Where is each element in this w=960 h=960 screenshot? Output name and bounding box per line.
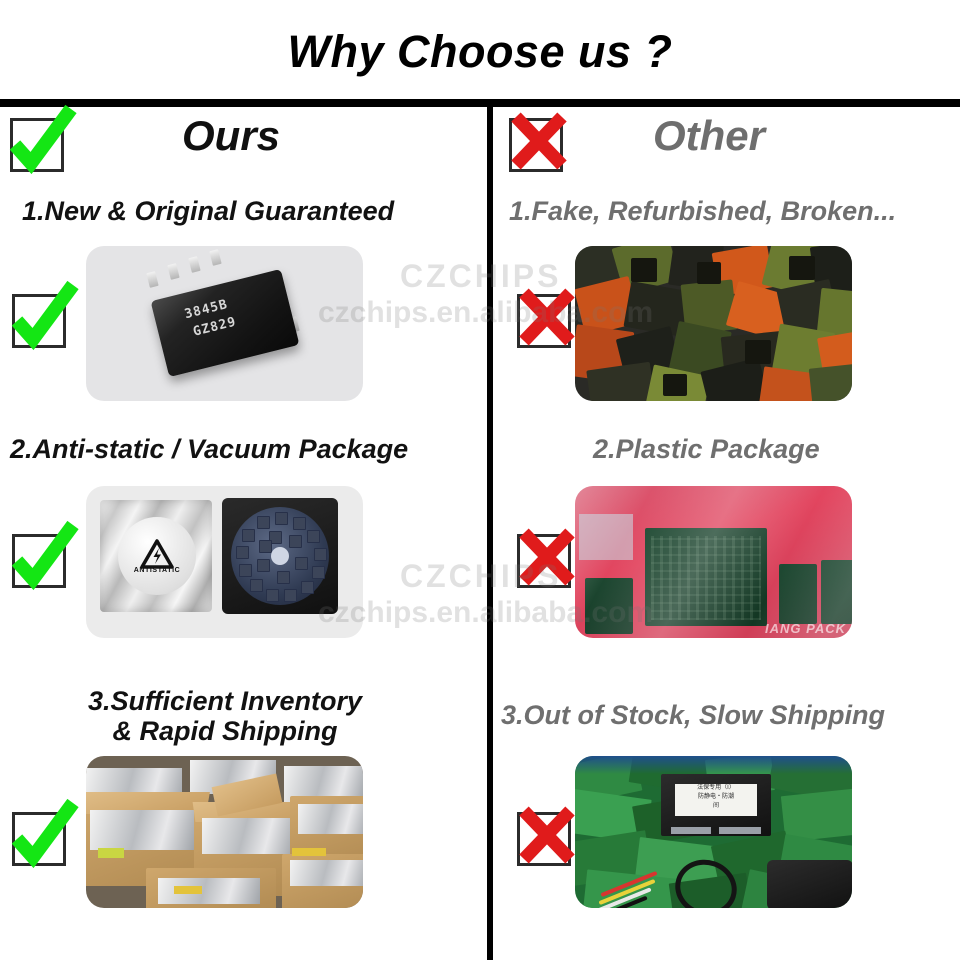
photo-fake-refurbished-chips [575,246,852,401]
package-watermark-text: IANG PACK [765,621,846,636]
photo-out-of-stock-scrap-pcb: 法保专用（I） 防静电・防潮 间 [575,756,852,908]
feature-text-3-ours: 3.Sufficient Inventory & Rapid Shipping [60,686,390,746]
cross-mark-icon-row-2 [517,534,571,588]
cross-mark-icon-row-1 [517,294,571,348]
antistatic-bag: ANTISTATIC [100,500,212,612]
check-mark-icon-row-3 [12,812,66,866]
feature-text-1-other: 1.Fake, Refurbished, Broken... [509,196,896,226]
antistatic-label-text: ANTISTATIC [118,567,196,574]
chip-body: 3845B GZ829 [151,269,300,377]
feature-row-2-ours: 2.Anti-static / Vacuum Package ANTISTATI… [0,434,487,670]
check-mark-icon-header-ours [10,118,64,172]
bag-label-disc: ANTISTATIC [118,517,196,595]
check-mark-icon-row-1 [12,294,66,348]
cross-mark-icon-header-other [509,118,563,172]
feature-row-1-ours: 1.New & Original Guaranteed 3845B GZ829 [0,196,487,428]
page-title: Why Choose us ? [0,26,960,78]
feature-text-1-ours: 1.New & Original Guaranteed [22,196,394,226]
high-voltage-warning-icon [140,539,174,569]
feature-row-3-ours: 3.Sufficient Inventory & Rapid Shipping [0,686,487,936]
feature-row-2-other: 2.Plastic Package IANG PACK [493,434,960,670]
photo-new-original-chip: 3845B GZ829 [86,246,363,401]
feature-row-3-other: 3.Out of Stock, Slow Shipping [493,686,960,936]
column-header-ours: Ours [0,110,487,172]
feature-text-2-ours: 2.Anti-static / Vacuum Package [10,434,408,464]
column-label-ours: Ours [182,112,280,160]
check-mark-icon-row-2 [12,534,66,588]
photo-antistatic-vacuum-package: ANTISTATIC [86,486,363,638]
feature-row-1-other: 1.Fake, Refurbished, Broken... [493,196,960,428]
black-module: 法保专用（I） 防静电・防潮 间 [661,774,771,836]
column-header-other: Other [493,110,960,172]
header-divider [0,99,960,107]
column-label-other: Other [653,112,765,160]
cross-mark-icon-row-3 [517,812,571,866]
module-label: 法保专用（I） 防静电・防潮 间 [675,784,757,816]
feature-text-2-other: 2.Plastic Package [593,434,820,464]
feature-text-3-other: 3.Out of Stock, Slow Shipping [501,700,885,730]
photo-plastic-package: IANG PACK [575,486,852,638]
why-choose-us-infographic: Why Choose us ? Ours Other 1.New & Origi… [0,0,960,960]
component-reel [222,498,338,614]
photo-sufficient-inventory-boxes [86,756,363,908]
